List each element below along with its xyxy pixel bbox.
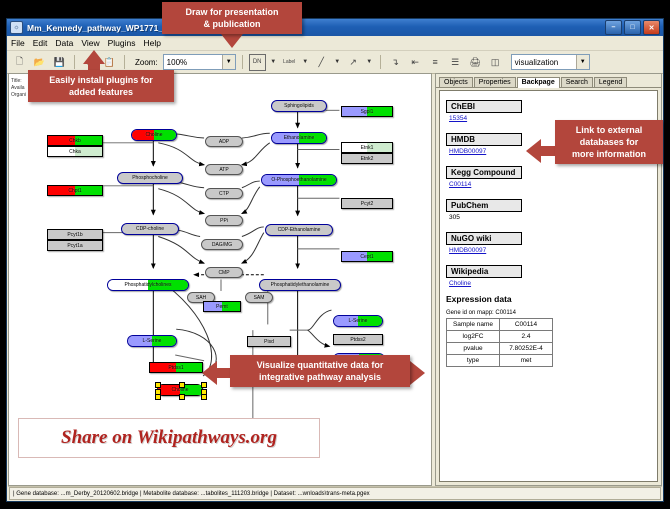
metabolite-node-label: L-Serine — [349, 318, 368, 324]
chevron-down-icon[interactable]: ▼ — [269, 55, 278, 70]
metabolite-node-label: Choline — [146, 132, 163, 138]
gene-node-label: Ptdss1 — [168, 365, 183, 371]
gene-node[interactable]: Chkb — [47, 135, 103, 146]
callout-external-links: Link to external databases for more info… — [555, 120, 663, 164]
callout-line: Easily install plugins for — [34, 74, 168, 86]
expression-row-label: log2FC — [447, 331, 500, 343]
chevron-down-icon[interactable]: ▼ — [222, 55, 235, 69]
metabolite-node-label: Phosphatidylcholines — [125, 282, 172, 288]
save-icon[interactable]: 💾 — [51, 54, 68, 71]
metabolite-node-label: Phosphocholine — [132, 175, 168, 181]
toolbar-separator — [124, 55, 125, 69]
gene-node[interactable]: Etnk2 — [341, 153, 393, 164]
zoom-value: 100% — [167, 58, 187, 67]
toolbar-separator — [380, 55, 381, 69]
new-file-icon[interactable]: 🗋 — [11, 54, 28, 71]
gene-node-label: Pcyt2 — [361, 201, 374, 207]
metabolite-node[interactable]: CDP-Ethanolamine — [265, 224, 333, 236]
tab-backpage[interactable]: Backpage — [517, 77, 560, 88]
toolbar-separator — [242, 55, 243, 69]
callout-line: & publication — [168, 18, 296, 30]
cofactor-node[interactable]: DAG/MG — [201, 239, 243, 250]
gene-node-label: Chkb — [69, 138, 81, 144]
gene-node-label: Chka — [69, 149, 81, 155]
tab-search[interactable]: Search — [561, 77, 593, 87]
metabolite-node[interactable]: CDP-choline — [121, 223, 179, 235]
database-link[interactable]: HMDB00097 — [449, 247, 651, 254]
expression-row-value: 7.80252E-4 — [500, 343, 553, 355]
zoom-combo[interactable]: 100% ▼ — [163, 54, 236, 70]
cofactor-node-label: ADP — [219, 139, 229, 145]
metabolite-node[interactable]: Choline — [131, 129, 177, 141]
callout-install-plugins: Easily install plugins for added feature… — [28, 70, 174, 102]
anchor-icon[interactable]: ↴ — [387, 54, 404, 71]
chevron-down-icon[interactable]: ▼ — [365, 55, 374, 70]
pathway-meta: Title: Availa Organi — [11, 78, 26, 99]
cofactor-node-label: SAM — [254, 295, 265, 301]
gene-node-label: Cept1 — [360, 254, 373, 260]
metabolite-node[interactable]: O-Phosphoethanolamine — [261, 174, 337, 186]
expression-data-title: Expression data — [446, 294, 651, 304]
callout-arrow-right — [410, 361, 425, 385]
gene-node[interactable]: Ptdss2 — [333, 334, 383, 345]
callout-visualize-data: Visualize quantitative data for integrat… — [230, 355, 410, 387]
callout-arrow-left — [526, 139, 541, 163]
share-wikipathways-banner: Share on Wikipathways.org — [18, 418, 320, 458]
selection-handle[interactable] — [155, 382, 161, 388]
gene-node-label: Ptdss2 — [350, 337, 365, 343]
metabolite-node-label: O-Phosphoethanolamine — [271, 177, 326, 183]
chevron-down-icon[interactable]: ▼ — [333, 55, 342, 70]
gene-node-label: Pemt — [216, 304, 228, 310]
screenshot-root: ☼ Mm_Kennedy_pathway_WP1771_45176.gpml –… — [0, 0, 670, 509]
gene-node-label: Pcyt1b — [67, 232, 82, 238]
metabolite-node-label: Phosphatidylethanolamine — [271, 282, 330, 288]
callout-draw-presentation: Draw for presentation & publication — [162, 2, 302, 34]
metabolite-node-label: CDP-Ethanolamine — [278, 227, 321, 233]
toolbar-separator — [74, 55, 75, 69]
database-header: Wikipedia — [446, 265, 522, 278]
gene-node[interactable]: Chpt1 — [47, 185, 103, 196]
expression-row-label: pvalue — [447, 343, 500, 355]
callout-arrow-up — [83, 50, 105, 64]
minimize-button[interactable]: – — [605, 20, 622, 35]
cofactor-node-label: SAH — [196, 295, 206, 301]
metabolite-node[interactable]: Phosphocholine — [117, 172, 183, 184]
gene-node-label: Sgpl1 — [361, 109, 374, 115]
line-icon[interactable]: ╱ — [313, 54, 330, 71]
metabolite-node[interactable]: Phosphatidylcholines — [107, 279, 189, 291]
zoom-label: Zoom: — [135, 58, 158, 67]
interaction-icon[interactable]: ↗ — [345, 54, 362, 71]
metabolite-node-label: L-Serine — [143, 338, 162, 344]
table-row: log2FC2.4 — [447, 331, 553, 343]
cofactor-node-label: ATP — [219, 167, 228, 173]
cofactor-node-label: CMP — [218, 270, 229, 276]
menu-item-help[interactable]: Help — [144, 38, 161, 48]
database-header: Kegg Compound — [446, 166, 522, 179]
align-left-icon[interactable]: ⇤ — [407, 54, 424, 71]
gene-node-label: Etnk1 — [361, 145, 374, 151]
gene-node-label: Pisd — [264, 339, 274, 345]
selection-handle[interactable] — [179, 394, 185, 400]
database-header: PubChem — [446, 199, 522, 212]
metabolite-node-label: CDP-choline — [136, 226, 164, 232]
metabolite-node[interactable]: Sphingolipids — [271, 100, 327, 112]
cofactor-node-label: PPi — [220, 218, 228, 224]
metabolite-node[interactable]: Phosphatidylethanolamine — [259, 279, 341, 291]
metabolite-node-label: Ethanolamine — [284, 135, 315, 141]
database-header: NuGO wiki — [446, 232, 522, 245]
gene-node[interactable]: Etnk1 — [341, 142, 393, 153]
print-icon[interactable]: 🖨 — [467, 54, 484, 71]
label-icon[interactable]: Label — [281, 54, 298, 71]
window-titlebar: ☼ Mm_Kennedy_pathway_WP1771_45176.gpml –… — [7, 19, 663, 36]
gene-node[interactable]: Pisd — [247, 336, 291, 347]
expression-row-label: Sample name — [447, 319, 500, 331]
datanode-icon[interactable]: DN — [249, 54, 266, 71]
cofactor-node-label: CTP — [219, 191, 229, 197]
gene-node[interactable]: Pemt — [203, 301, 241, 312]
gene-node[interactable]: Sgpl1 — [341, 106, 393, 117]
callout-line: added features — [34, 86, 168, 98]
database-value: 305 — [449, 214, 651, 221]
metabolite-node[interactable]: L-Serine — [127, 335, 177, 347]
meta-organism: Organi — [11, 92, 26, 99]
database-header: HMDB — [446, 133, 522, 146]
callout-line: integrative pathway analysis — [236, 371, 404, 383]
gene-node[interactable]: Chka — [47, 146, 103, 157]
visualization-value: visualization — [515, 58, 559, 67]
callout-line: Visualize quantitative data for — [236, 359, 404, 371]
menu-bar: File Edit Data View Plugins Help — [7, 36, 663, 51]
metabolite-node[interactable]: Ethanolamine — [271, 132, 327, 144]
gene-node[interactable]: Pcyt2 — [341, 198, 393, 209]
callout-arrow-down — [221, 34, 243, 48]
callout-line: more information — [561, 148, 657, 160]
cofactor-node-label: DAG/MG — [212, 242, 232, 248]
chevron-down-icon[interactable]: ▼ — [576, 55, 589, 69]
table-row: typemet — [447, 355, 553, 367]
cofactor-node[interactable]: PPi — [205, 215, 243, 226]
callout-line: Link to external — [561, 124, 657, 136]
meta-title: Title: — [11, 78, 26, 85]
gene-node[interactable]: Pcyt1a — [47, 240, 103, 251]
open-folder-icon[interactable]: 📂 — [31, 54, 48, 71]
gene-node[interactable]: Cept1 — [341, 251, 393, 262]
menu-item-plugins[interactable]: Plugins — [108, 38, 136, 48]
gene-node-label: Etnk2 — [361, 156, 374, 162]
database-header: ChEBI — [446, 100, 522, 113]
database-link[interactable]: Choline — [449, 280, 651, 287]
tab-legend[interactable]: Legend — [594, 77, 627, 87]
metabolite-node[interactable]: Choline — [157, 384, 203, 396]
expression-row-value: 2.4 — [500, 331, 553, 343]
metabolite-node-label: Sphingolipids — [284, 103, 314, 109]
gene-node-label: Pcyt1a — [67, 243, 82, 249]
visualization-combo[interactable]: visualization ▼ — [511, 54, 590, 70]
gene-node-label: Chpt1 — [68, 188, 81, 194]
menu-item-edit[interactable]: Edit — [33, 38, 48, 48]
status-databases: | Gene database: ...m_Derby_20120602.bri… — [9, 487, 661, 500]
share-text: Share on Wikipathways.org — [61, 427, 277, 449]
cofactor-node[interactable]: CTP — [205, 188, 243, 199]
window-title: Mm_Kennedy_pathway_WP1771_45176.gpml — [27, 23, 605, 33]
stack-icon[interactable]: ≡ — [427, 54, 444, 71]
selection-handle[interactable] — [179, 382, 185, 388]
menu-item-data[interactable]: Data — [55, 38, 73, 48]
gene-id-on-mapp: Gene id on mapp: C00114 — [446, 310, 651, 316]
selection-handle[interactable] — [155, 394, 161, 400]
table-row: pvalue7.80252E-4 — [447, 343, 553, 355]
callout-arrow-left — [202, 361, 217, 385]
distribute-icon[interactable]: ☰ — [447, 54, 464, 71]
callout-line: Draw for presentation — [168, 6, 296, 18]
callout-line: databases for — [561, 136, 657, 148]
menu-item-file[interactable]: File — [11, 38, 25, 48]
expression-row-value: met — [500, 355, 553, 367]
meta-availability: Availa — [11, 85, 26, 92]
metabolite-node[interactable]: L-Serine — [333, 315, 383, 327]
cofactor-node[interactable]: ATP — [205, 164, 243, 175]
panel-icon[interactable]: ◫ — [487, 54, 504, 71]
gene-node[interactable]: Pcyt1b — [47, 229, 103, 240]
expression-table: Sample nameC00114log2FC2.4pvalue7.80252E… — [446, 318, 553, 367]
table-row: Sample nameC00114 — [447, 319, 553, 331]
database-link[interactable]: C00114 — [449, 181, 651, 188]
tab-objects[interactable]: Objects — [439, 77, 473, 87]
selection-handle[interactable] — [201, 394, 207, 400]
status-bar: | Gene database: ...m_Derby_20120602.bri… — [8, 486, 662, 500]
window-controls: – □ ✕ — [605, 20, 660, 35]
pathvisio-icon: ☼ — [10, 21, 23, 34]
side-panel-tabs: ObjectsPropertiesBackpageSearchLegend — [436, 74, 661, 88]
cofactor-node[interactable]: ADP — [205, 136, 243, 147]
close-button[interactable]: ✕ — [643, 20, 660, 35]
tab-properties[interactable]: Properties — [474, 77, 516, 87]
cofactor-node[interactable]: SAM — [245, 292, 273, 303]
chevron-down-icon[interactable]: ▼ — [301, 55, 310, 70]
cofactor-node[interactable]: CMP — [205, 267, 243, 278]
gene-node[interactable]: Ptdss1 — [149, 362, 203, 373]
maximize-button[interactable]: □ — [624, 20, 641, 35]
menu-item-view[interactable]: View — [81, 38, 99, 48]
expression-row-label: type — [447, 355, 500, 367]
expression-row-value: C00114 — [500, 319, 553, 331]
